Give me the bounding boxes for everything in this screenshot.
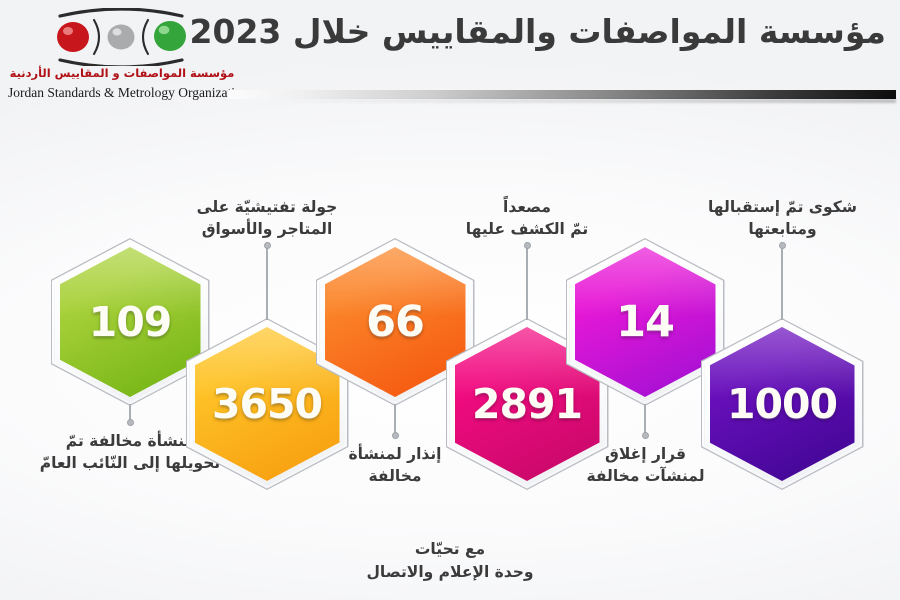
infographic-canvas: مؤسسة المواصفات و المقاييس الأردنية Jord… (0, 0, 900, 600)
stat-label-line-2: المتاجر والأسواق (162, 218, 372, 240)
title-divider (228, 90, 896, 99)
connector-dot (392, 432, 399, 439)
logo-name-arabic: مؤسسة المواصفات و المقاييس الأردنية (8, 66, 236, 80)
header: مؤسسة المواصفات و المقاييس الأردنية Jord… (0, 0, 900, 118)
connector-line (394, 404, 396, 435)
connector-line (781, 242, 783, 320)
stat-label: مصعداًتمّ الكشف عليها (432, 196, 622, 240)
connector-dot (524, 242, 531, 249)
footer-line-2: وحدة الإعلام والاتصال (0, 561, 900, 584)
connector-dot (779, 242, 786, 249)
stat-label: جولة تفتيشيّة علىالمتاجر والأسواق (162, 196, 372, 240)
connector-dot (127, 419, 134, 426)
stat-label-line-1: جولة تفتيشيّة على (162, 196, 372, 218)
stat-label-line-1: مصعداً (432, 196, 622, 218)
logo-name-english: Jordan Standards & Metrology Organizatio… (8, 85, 236, 101)
connector-dot (642, 432, 649, 439)
stat-label-line-2: ومتابعتها (680, 218, 885, 240)
stat-label: شكوى تمّ إستقبالهاومتابعتها (680, 196, 885, 240)
connector-line (526, 242, 528, 320)
title-divider-shadow (228, 99, 896, 103)
stat-node: 1000 (701, 318, 864, 490)
page-title: مؤسسة المواصفات والمقاييس خلال 2023 (226, 12, 886, 51)
connector-dot (264, 242, 271, 249)
stat-label-line-1: شكوى تمّ إستقبالها (680, 196, 885, 218)
footer-line-1: مع تحيّات (0, 538, 900, 561)
logo-mark-icon (46, 8, 196, 66)
stat-label-line-2: تمّ الكشف عليها (432, 218, 622, 240)
connector-line (644, 404, 646, 435)
connector-line (266, 242, 268, 320)
footer-credits: مع تحيّات وحدة الإعلام والاتصال (0, 538, 900, 585)
